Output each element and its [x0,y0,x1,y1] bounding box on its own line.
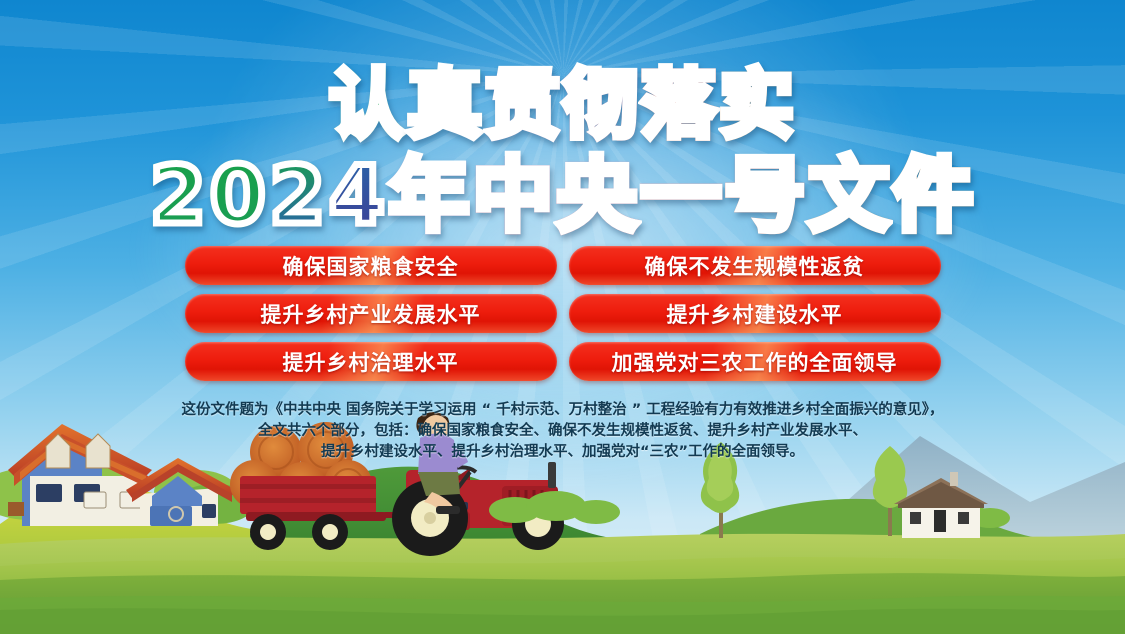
slogan-pill[interactable]: 加强党对三农工作的全面领导 [569,342,941,381]
slogan-row: 确保国家粮食安全确保不发生规模性返贫 [185,246,941,285]
paragraph-line: 这份文件题为《中共中央 国务院关于学习运用 “ 千村示范、万村整治 ” 工程经验… [0,400,1125,421]
slogan-pill-label: 提升乡村产业发展水平 [261,299,481,329]
paragraph-line: 全文共六个部分，包括：确保国家粮食安全、确保不发生规模性返贫、提升乡村产业发展水… [0,421,1125,442]
slogan-pill[interactable]: 提升乡村建设水平 [569,294,941,333]
poster-headline-group: 认真贯彻落实 2024年中央一号文件 [0,68,1125,236]
title-char: 2 [149,156,209,236]
title-char: 件 [892,156,976,236]
title-char: 贯 [485,68,563,142]
title-char: 实 [719,68,797,142]
slogan-pill-label: 提升乡村建设水平 [667,299,843,329]
title-char: 真 [407,68,485,142]
poster-canvas: 认真贯彻落实 2024年中央一号文件 确保国家粮食安全确保不发生规模性返贫提升乡… [0,0,1125,634]
title-char: 认 [329,68,407,142]
title-char: 2 [269,156,329,236]
slogan-pill[interactable]: 提升乡村产业发展水平 [185,294,557,333]
slogan-pill-group: 确保国家粮食安全确保不发生规模性返贫提升乡村产业发展水平提升乡村建设水平提升乡村… [0,246,1125,381]
title-char: 文 [808,156,892,236]
title-char: 0 [209,156,269,236]
slogan-row: 提升乡村产业发展水平提升乡村建设水平 [185,294,941,333]
title-char: 彻 [563,68,641,142]
title-char: 中 [472,156,556,236]
slogan-pill[interactable]: 提升乡村治理水平 [185,342,557,381]
title-char: 4 [328,156,388,236]
title-char: 央 [556,156,640,236]
title-char: 号 [724,156,808,236]
slogan-pill-label: 确保不发生规模性返贫 [645,251,865,281]
paragraph-line: 提升乡村建设水平、提升乡村治理水平、加强党对“三农”工作的全面领导。 [0,442,1125,463]
slogan-pill-label: 确保国家粮食安全 [283,251,459,281]
slogan-pill-label: 加强党对三农工作的全面领导 [612,347,898,377]
slogan-pill-label: 提升乡村治理水平 [283,347,459,377]
title-line-1: 认真贯彻落实 [0,68,1125,142]
title-char: 一 [640,156,724,236]
slogan-pill[interactable]: 确保不发生规模性返贫 [569,246,941,285]
title-char: 年 [388,156,472,236]
title-char: 落 [641,68,719,142]
slogan-pill[interactable]: 确保国家粮食安全 [185,246,557,285]
description-paragraph: 这份文件题为《中共中央 国务院关于学习运用 “ 千村示范、万村整治 ” 工程经验… [0,400,1125,463]
title-line-2: 2024年中央一号文件 [0,156,1125,236]
slogan-row: 提升乡村治理水平加强党对三农工作的全面领导 [185,342,941,381]
